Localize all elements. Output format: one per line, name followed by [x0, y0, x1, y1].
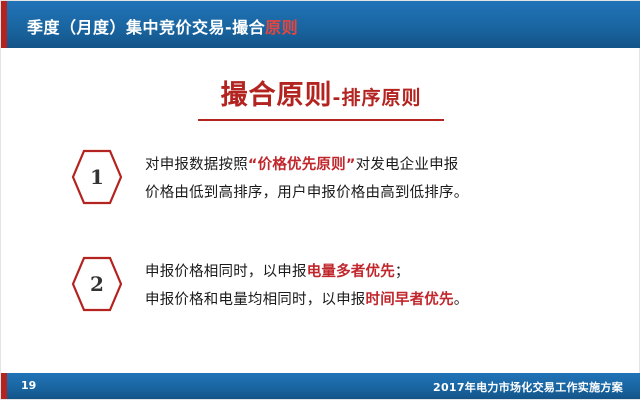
text-run: 申报价格和电量均相同时，以申报 — [145, 292, 366, 308]
header-accent-stripe — [1, 1, 7, 48]
header-title-main: 季度（月度）集中竞价交易-撮合 — [27, 18, 265, 37]
text-run: 申报价格相同时，以申报 — [145, 264, 307, 280]
principle-item-1-line-1: 对申报数据按照“价格优先原则”对发电企业申报 — [145, 151, 581, 179]
text-run: 价格由低到高排序，用户申报价格由高到低排序。 — [145, 185, 468, 201]
principle-item-1-line-2: 价格由低到高排序，用户申报价格由高到低排序。 — [145, 179, 581, 207]
page-title-wrap: 撮合原则-排序原则 — [1, 73, 640, 119]
hexagon-number-2: 2 — [71, 256, 123, 312]
hexagon-number-1: 1 — [71, 149, 123, 205]
text-run-emphasis: 时间早者优先 — [366, 292, 454, 308]
text-run: 对申报数据按照 — [145, 157, 248, 173]
page-title-sub: 排序原则 — [341, 87, 421, 109]
text-run: 对发电企业申报 — [356, 157, 459, 173]
footer-accent-stripe — [1, 373, 7, 399]
text-run: 。 — [454, 292, 469, 308]
header-title-highlight: 原则 — [265, 18, 298, 37]
title-underline — [198, 119, 444, 121]
text-run: ； — [395, 264, 410, 280]
page-title-main: 撮合原则 — [221, 80, 333, 111]
principle-item-2-line-2: 申报价格和电量均相同时，以申报时间早者优先。 — [145, 286, 581, 314]
principle-item-2-line-1: 申报价格相同时，以申报电量多者优先； — [145, 258, 581, 286]
page-title: 撮合原则-排序原则 — [221, 73, 422, 119]
header-title: 季度（月度）集中竞价交易-撮合原则 — [27, 14, 298, 38]
principle-item-1-text: 对申报数据按照“价格优先原则”对发电企业申报 价格由低到高排序，用户申报价格由高… — [145, 151, 581, 207]
footer-text: 2017年电力市场化交易工作实施方案 — [433, 379, 623, 395]
text-run-emphasis: “价格优先原则” — [248, 157, 356, 173]
page-number: 19 — [21, 379, 36, 392]
text-run-emphasis: 电量多者优先 — [307, 264, 395, 280]
principle-item-2-text: 申报价格相同时，以申报电量多者优先； 申报价格和电量均相同时，以申报时间早者优先… — [145, 258, 581, 314]
header-bar: 季度（月度）集中竞价交易-撮合原则 — [1, 1, 640, 48]
footer-bar: 19 2017年电力市场化交易工作实施方案 — [1, 373, 640, 399]
slide: 季度（月度）集中竞价交易-撮合原则 撮合原则-排序原则 1 对申报数据按照“价格… — [0, 0, 640, 400]
